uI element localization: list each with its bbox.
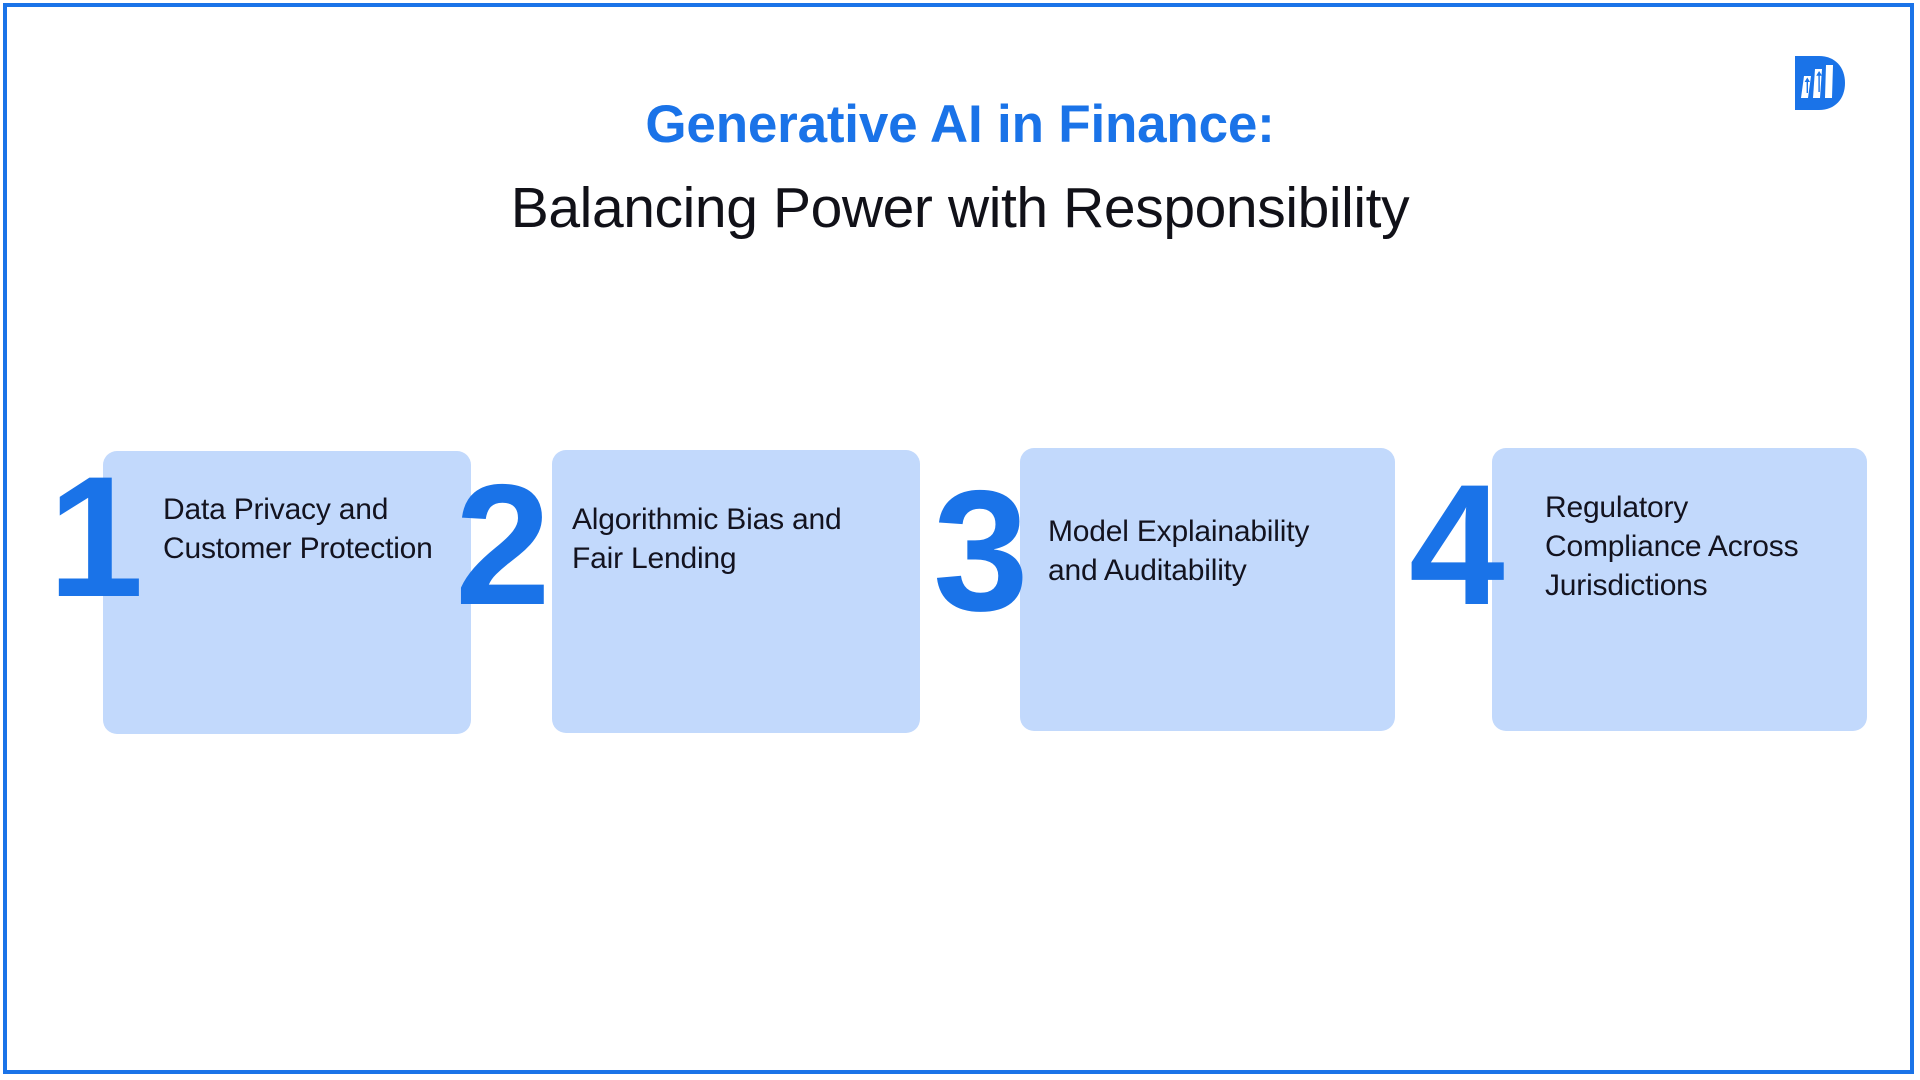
heading-block: Generative AI in Finance: Balancing Powe… bbox=[0, 96, 1920, 242]
numbered-card-1[interactable]: 1 Data Privacy and Customer Protection bbox=[0, 440, 480, 740]
slide-canvas: Generative AI in Finance: Balancing Powe… bbox=[0, 0, 1920, 1080]
card-2-label: Algorithmic Bias and Fair Lending bbox=[572, 500, 862, 578]
card-1-label: Data Privacy and Customer Protection bbox=[163, 490, 453, 568]
card-4-number: 4 bbox=[1409, 466, 1501, 624]
card-4-label: Regulatory Compliance Across Jurisdictio… bbox=[1545, 488, 1845, 605]
card-1-number: 1 bbox=[48, 458, 140, 616]
card-2-background bbox=[552, 450, 920, 733]
page-subtitle: Balancing Power with Responsibility bbox=[0, 176, 1920, 242]
numbered-card-4[interactable]: 4 Regulatory Compliance Across Jurisdict… bbox=[1390, 440, 1880, 740]
card-3-label: Model Explainability and Auditability bbox=[1048, 512, 1348, 590]
card-2-number: 2 bbox=[455, 466, 547, 624]
numbered-card-2[interactable]: 2 Algorithmic Bias and Fair Lending bbox=[455, 440, 935, 740]
page-title: Generative AI in Finance: bbox=[0, 96, 1920, 154]
numbered-cards-row: 1 Data Privacy and Customer Protection 2… bbox=[0, 440, 1920, 760]
numbered-card-3[interactable]: 3 Model Explainability and Auditability bbox=[925, 440, 1405, 740]
card-3-number: 3 bbox=[933, 472, 1025, 630]
